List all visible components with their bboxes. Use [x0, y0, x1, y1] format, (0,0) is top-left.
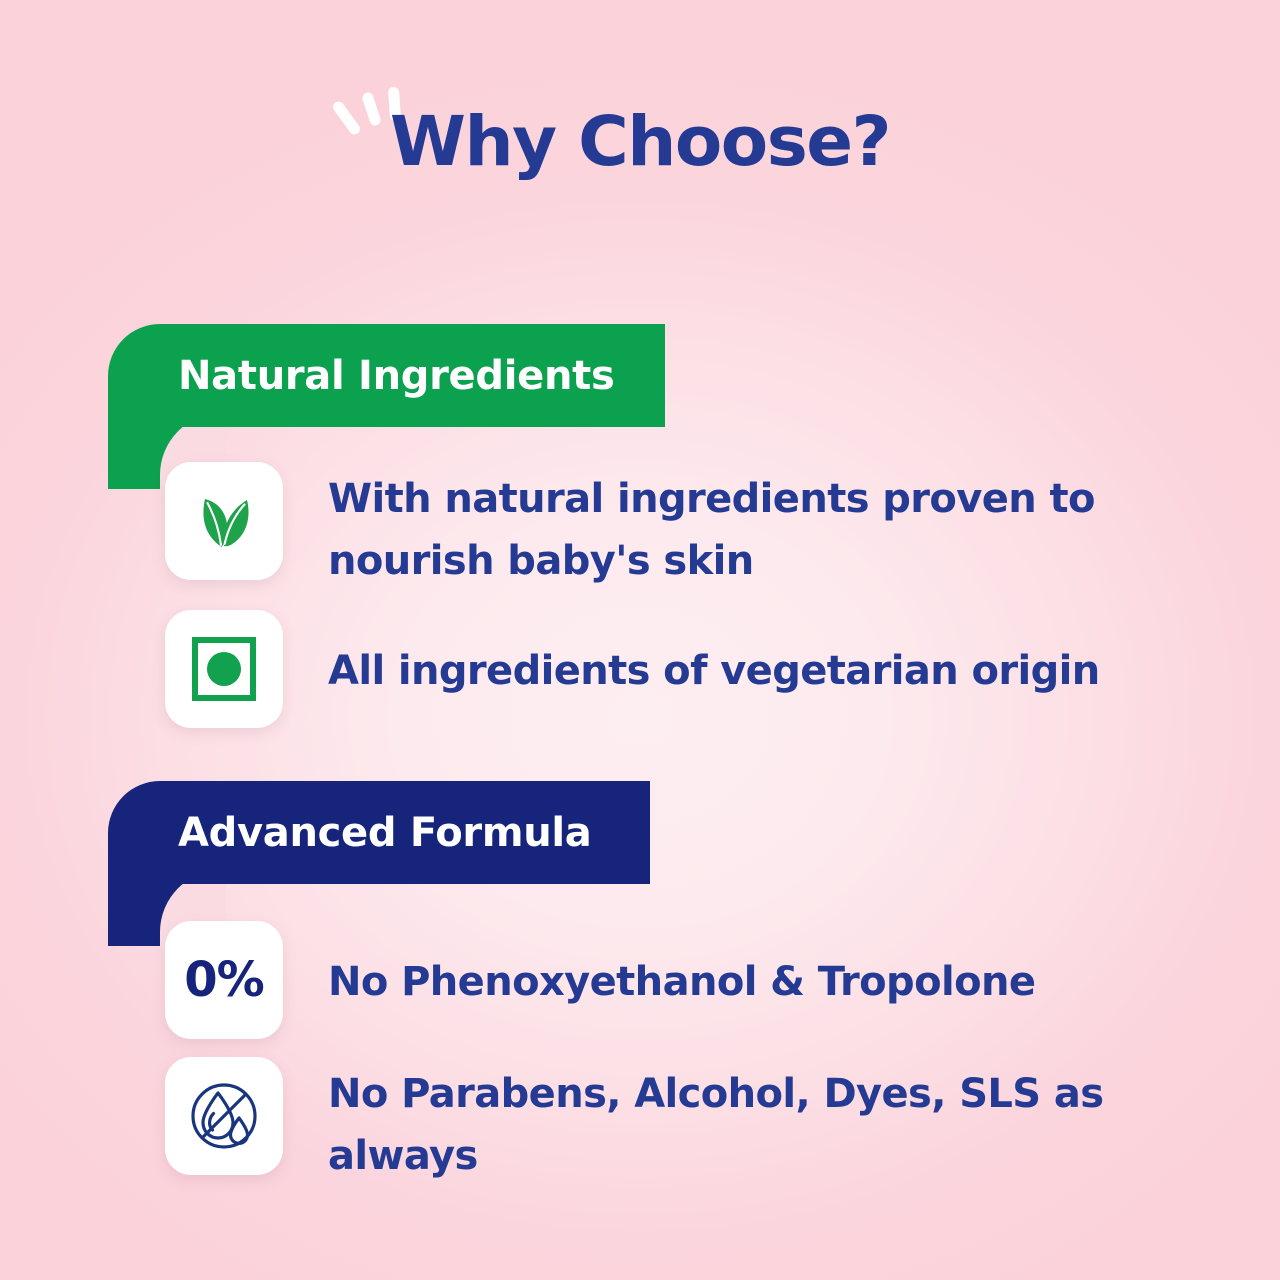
section-banner-natural: Natural Ingredients: [108, 324, 665, 427]
section-natural-ingredients: Natural Ingredients: [0, 324, 1280, 484]
section-advanced-formula: Advanced Formula: [0, 781, 1280, 941]
page-title: Why Choose?: [0, 108, 1280, 177]
section-banner-label-natural: Natural Ingredients: [178, 353, 614, 399]
no-droplets-icon: [165, 1057, 283, 1175]
feature-list-advanced: 0% No Phenoxyethanol & Tropolone: [0, 921, 1280, 1205]
feature-text: No Parabens, Alcohol, Dyes, SLS as alway…: [328, 1057, 1158, 1187]
zero-percent-label: 0%: [184, 956, 264, 1004]
banner-wrap-natural: Natural Ingredients: [0, 324, 1280, 484]
title-block: Why Choose?: [0, 108, 1280, 177]
why-choose-poster: Why Choose? Natural Ingredients Wi: [0, 0, 1280, 1280]
section-banner-advanced: Advanced Formula: [108, 781, 650, 884]
feature-row: No Parabens, Alcohol, Dyes, SLS as alway…: [0, 1057, 1280, 1187]
feature-row: 0% No Phenoxyethanol & Tropolone: [0, 921, 1280, 1039]
banner-wrap-advanced: Advanced Formula: [0, 781, 1280, 941]
feature-row: All ingredients of vegetarian origin: [0, 610, 1280, 728]
feature-text: With natural ingredients proven to nouri…: [328, 462, 1158, 592]
vegetarian-mark-icon: [165, 610, 283, 728]
feature-text: All ingredients of vegetarian origin: [328, 610, 1100, 702]
zero-percent-icon: 0%: [165, 921, 283, 1039]
feature-text: No Phenoxyethanol & Tropolone: [328, 921, 1035, 1013]
feature-row: With natural ingredients proven to nouri…: [0, 462, 1280, 592]
feature-list-natural: With natural ingredients proven to nouri…: [0, 462, 1280, 746]
section-banner-label-advanced: Advanced Formula: [178, 810, 592, 856]
leaves-icon: [165, 462, 283, 580]
